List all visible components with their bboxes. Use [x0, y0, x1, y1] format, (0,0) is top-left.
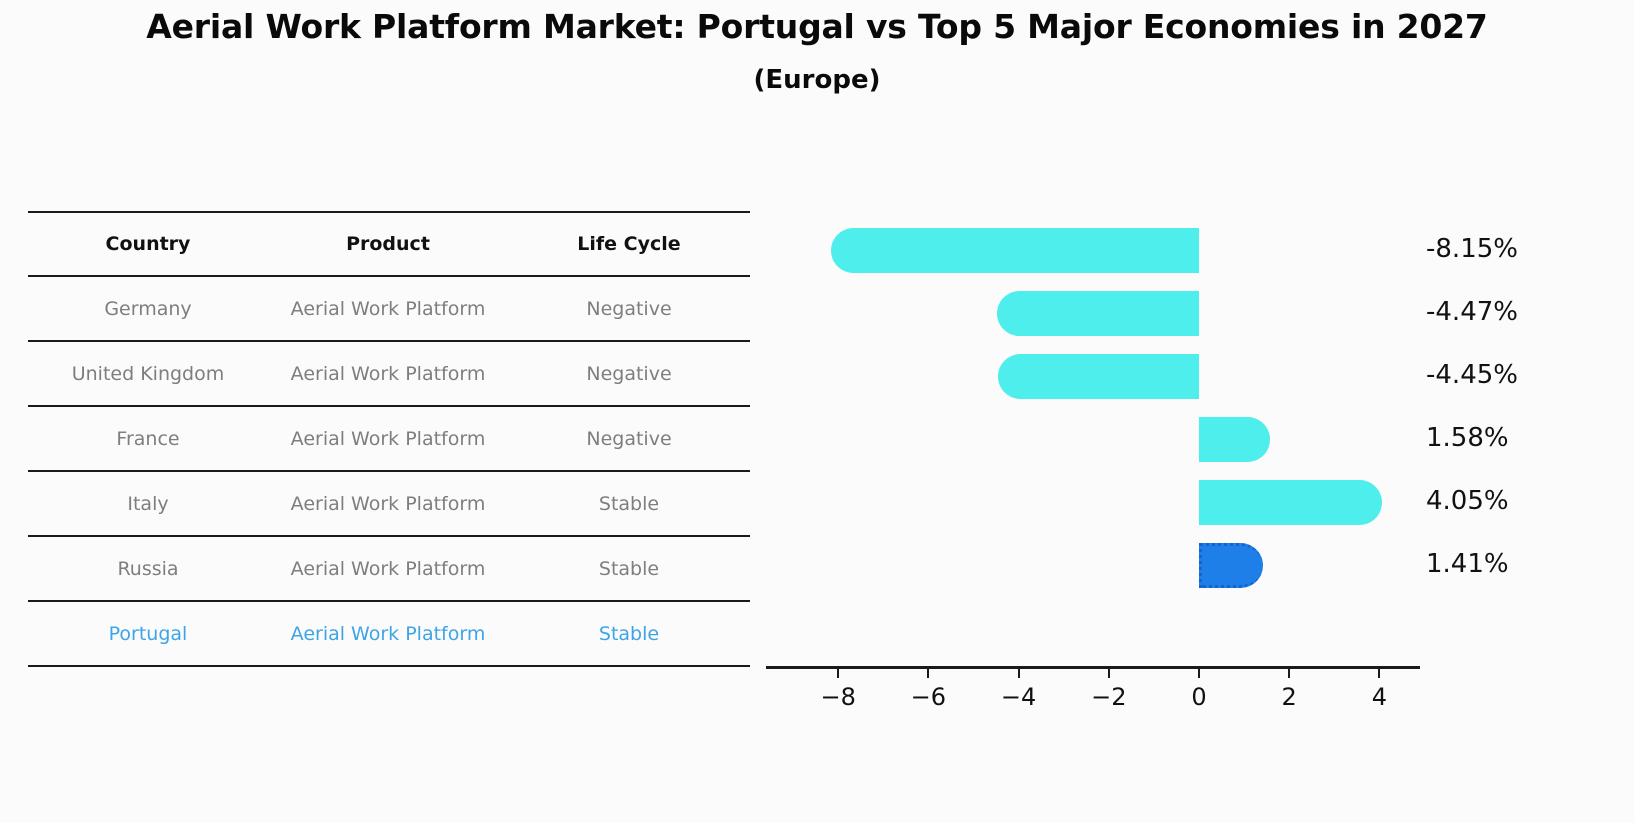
cell-country: Germany [28, 276, 268, 341]
table-row-highlighted[interactable]: Portugal Aerial Work Platform Stable [28, 601, 750, 666]
bar-value-label: -8.15% [1426, 234, 1518, 264]
bar[interactable] [1199, 417, 1270, 462]
x-tick-mark [1288, 669, 1290, 678]
country-table: Country Product Life Cycle Germany Aeria… [28, 211, 750, 667]
x-tick-label: 4 [1372, 683, 1387, 711]
cell-product: Aerial Work Platform [268, 406, 508, 471]
table-row[interactable]: United Kingdom Aerial Work Platform Nega… [28, 341, 750, 406]
x-tick-label: 2 [1282, 683, 1297, 711]
bar-value-label: 1.41% [1426, 549, 1509, 579]
cell-country: Portugal [28, 601, 268, 666]
x-tick-label: 0 [1191, 683, 1206, 711]
page-title: Aerial Work Platform Market: Portugal vs… [0, 10, 1634, 43]
x-tick-mark [837, 669, 839, 678]
cell-product: Aerial Work Platform [268, 341, 508, 406]
bar-chart-panel: −8−6−4−2024 -8.15%-4.47%-4.45%1.58%4.05%… [766, 211, 1626, 731]
cell-life-cycle: Negative [508, 341, 750, 406]
plot-area [766, 211, 1420, 666]
table-body: Germany Aerial Work Platform Negative Un… [28, 276, 750, 666]
cell-country: Italy [28, 471, 268, 536]
x-tick-label: −6 [911, 683, 946, 711]
cell-country: Russia [28, 536, 268, 601]
x-tick-label: −4 [1001, 683, 1036, 711]
table-header: Country Product Life Cycle [28, 212, 750, 276]
bar-value-label: 4.05% [1426, 486, 1509, 516]
table-row[interactable]: France Aerial Work Platform Negative [28, 406, 750, 471]
bar-value-label: 1.58% [1426, 423, 1509, 453]
cell-life-cycle: Negative [508, 276, 750, 341]
cell-product: Aerial Work Platform [268, 276, 508, 341]
table-row[interactable]: Italy Aerial Work Platform Stable [28, 471, 750, 536]
cell-country: United Kingdom [28, 341, 268, 406]
x-tick-mark [1378, 669, 1380, 678]
x-tick-label: −8 [820, 683, 855, 711]
cell-product: Aerial Work Platform [268, 471, 508, 536]
bar-value-label: -4.47% [1426, 297, 1518, 327]
x-tick-label: −2 [1091, 683, 1126, 711]
cell-product: Aerial Work Platform [268, 536, 508, 601]
cell-country: France [28, 406, 268, 471]
bar-highlighted[interactable] [1199, 543, 1263, 588]
cell-life-cycle: Stable [508, 471, 750, 536]
x-tick-mark [1018, 669, 1020, 678]
column-header-country: Country [28, 212, 268, 276]
table-header-row: Country Product Life Cycle [28, 212, 750, 276]
cell-life-cycle: Negative [508, 406, 750, 471]
title-block: Aerial Work Platform Market: Portugal vs… [0, 10, 1634, 93]
table-row[interactable]: Germany Aerial Work Platform Negative [28, 276, 750, 341]
cell-product: Aerial Work Platform [268, 601, 508, 666]
x-tick-mark [927, 669, 929, 678]
column-header-product: Product [268, 212, 508, 276]
x-axis-line [766, 666, 1420, 669]
page-subtitle: (Europe) [0, 67, 1634, 93]
x-tick-mark [1198, 669, 1200, 678]
bar-value-label: -4.45% [1426, 360, 1518, 390]
cell-life-cycle: Stable [508, 601, 750, 666]
country-table-panel: Country Product Life Cycle Germany Aeria… [28, 211, 750, 667]
bar[interactable] [997, 291, 1199, 336]
bar[interactable] [998, 354, 1199, 399]
bar[interactable] [1199, 480, 1382, 525]
bar[interactable] [831, 228, 1199, 273]
column-header-life-cycle: Life Cycle [508, 212, 750, 276]
x-tick-mark [1108, 669, 1110, 678]
table-row[interactable]: Russia Aerial Work Platform Stable [28, 536, 750, 601]
cell-life-cycle: Stable [508, 536, 750, 601]
